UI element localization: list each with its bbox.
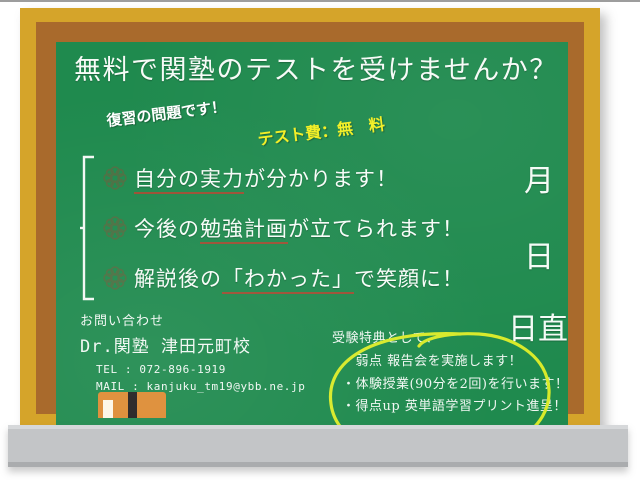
- blackboard-surface: 無料で関塾のテストを受けませんか？ 復習の問題です！ テスト費：無 料: [56, 42, 568, 430]
- list-item: 解説後の「わかった」で笑顔に！: [102, 256, 464, 300]
- contact-school-name: Dr.関塾 津田元町校: [80, 332, 305, 357]
- bonus-block: 受験特典として、 ・弱点 報告会を実施します！ ・体験授業(90分を2回)を行い…: [332, 328, 568, 418]
- bonus-item: ・弱点 報告会を実施します！: [332, 351, 568, 373]
- list-item-tail: が分かります！: [244, 167, 398, 191]
- contact-heading: お問い合わせ: [80, 310, 305, 329]
- list-item: 今後の勉強計画が立てられます！: [102, 206, 464, 250]
- bonus-item: ・体験授業(90分を2回)を行います！: [332, 374, 568, 396]
- note-review-text: 復習の問題です！: [105, 96, 227, 131]
- left-brace-icon: [80, 154, 96, 302]
- board-label-day: 日: [524, 232, 554, 276]
- bonus-heading: 受験特典として、: [332, 328, 568, 350]
- contact-tel: TEL : 072-896-1919: [96, 361, 305, 378]
- note-test-fee-text: テスト費：無 料: [256, 111, 386, 150]
- list-item-underlined: 「わかった」: [222, 267, 354, 294]
- bonus-item: ・得点up 英単語学習プリント進呈！: [332, 396, 568, 418]
- list-item-lead: 解説後の: [134, 267, 222, 291]
- blackboard-poster-screen: 無料で関塾のテストを受けませんか？ 復習の問題です！ テスト費：無 料: [0, 0, 640, 480]
- list-item-tail: で笑顔に！: [354, 267, 464, 291]
- top-divider: [0, 0, 640, 2]
- list-item: 自分の実力が分かります！: [102, 156, 398, 200]
- blackboard-wooden-frame: 無料で関塾のテストを受けませんか？ 復習の問題です！ テスト費：無 料: [20, 8, 600, 428]
- list-item-underlined: 自分の実力: [134, 167, 244, 194]
- board-label-month: 月: [524, 156, 554, 200]
- list-item-text: 自分の実力が分かります！: [134, 163, 398, 193]
- list-item-tail: が立てられます！: [288, 217, 464, 241]
- eraser-stripe: [128, 392, 137, 418]
- flower-icon: [102, 265, 128, 291]
- ledge-lip: [8, 425, 628, 429]
- benefit-list: 自分の実力が分かります！: [80, 154, 550, 302]
- ledge-base: [8, 462, 628, 467]
- list-item-lead: 今後の: [134, 217, 200, 241]
- flower-icon: [102, 215, 128, 241]
- list-item-text: 今後の勉強計画が立てられます！: [134, 213, 464, 243]
- list-item-underlined: 勉強計画: [200, 217, 288, 244]
- chalk-stick[interactable]: [103, 400, 113, 418]
- flower-icon: [102, 165, 128, 191]
- chalk-ledge: [8, 425, 628, 467]
- page-title: 無料で関塾のテストを受けませんか？: [74, 48, 568, 87]
- list-item-text: 解説後の「わかった」で笑顔に！: [134, 263, 464, 293]
- contact-block: お問い合わせ Dr.関塾 津田元町校 TEL : 072-896-1919 MA…: [80, 310, 305, 395]
